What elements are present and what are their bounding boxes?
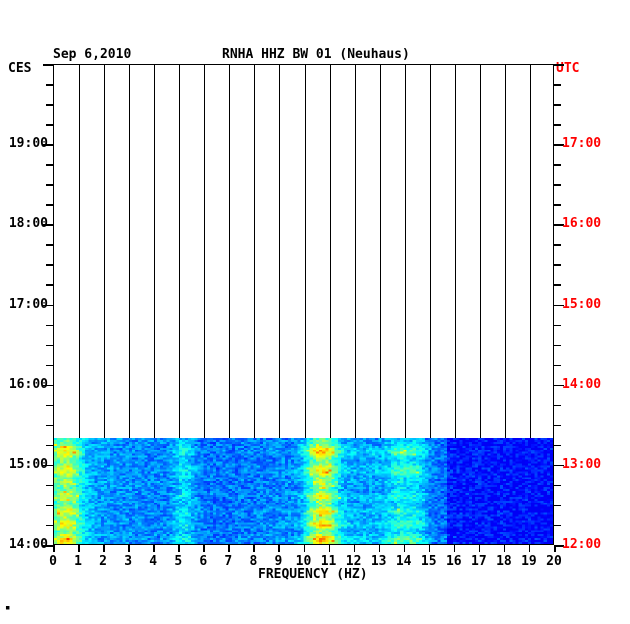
bottom-tick	[329, 545, 331, 552]
bottom-tick	[253, 545, 255, 552]
bottom-tick	[529, 545, 531, 552]
bottom-tick	[354, 545, 356, 552]
left-tick-label: 14:00	[0, 537, 48, 552]
bottom-tick-label: 14	[394, 554, 414, 569]
left-tick-minor	[46, 104, 53, 106]
right-tick-label: 15:00	[562, 297, 601, 312]
bottom-tick	[278, 545, 280, 552]
bottom-tick-label: 3	[118, 554, 138, 569]
bottom-tick	[203, 545, 205, 552]
left-tick-label: 18:00	[0, 216, 48, 231]
bottom-tick-label: 5	[168, 554, 188, 569]
spectrogram-canvas	[54, 438, 553, 544]
left-tick-label: 19:00	[0, 136, 48, 151]
left-tick-minor	[46, 505, 53, 507]
right-tick-minor	[554, 485, 561, 487]
right-tick-label: 16:00	[562, 216, 601, 231]
bottom-tick-label: 16	[444, 554, 464, 569]
bottom-tick	[228, 545, 230, 552]
bottom-tick	[404, 545, 406, 552]
bottom-tick-label: 17	[469, 554, 489, 569]
right-tick-minor	[554, 184, 561, 186]
right-tick-minor	[554, 505, 561, 507]
left-tick-minor	[46, 124, 53, 126]
bottom-tick	[504, 545, 506, 552]
bottom-tick	[429, 545, 431, 552]
bottom-tick	[153, 545, 155, 552]
bottom-tick-label: 20	[544, 554, 564, 569]
spectrogram-image	[54, 438, 553, 544]
bottom-tick	[479, 545, 481, 552]
right-tick-minor	[554, 345, 561, 347]
bottom-tick	[304, 545, 306, 552]
left-tick-minor	[46, 525, 53, 527]
right-tick-minor	[554, 84, 561, 86]
right-tick-minor	[554, 445, 561, 447]
bottom-tick-label: 18	[494, 554, 514, 569]
left-tick-minor	[46, 405, 53, 407]
corner-artifact-mark: ▪	[5, 603, 10, 613]
left-tick-minor	[46, 325, 53, 327]
bottom-tick	[554, 545, 556, 552]
left-axis-label: CES	[8, 61, 31, 76]
bottom-tick	[379, 545, 381, 552]
right-tick-minor	[554, 264, 561, 266]
right-tick-label: 14:00	[562, 377, 601, 392]
right-tick-minor	[554, 425, 561, 427]
right-tick-label: 12:00	[562, 537, 601, 552]
bottom-tick	[178, 545, 180, 552]
left-tick-major	[43, 64, 53, 66]
bottom-tick	[53, 545, 55, 552]
right-tick-minor	[554, 365, 561, 367]
left-tick-minor	[46, 425, 53, 427]
title-date: Sep 6,2010	[53, 47, 131, 62]
xaxis-title: FREQUENCY (HZ)	[258, 567, 368, 582]
left-tick-label: 17:00	[0, 297, 48, 312]
bottom-tick	[128, 545, 130, 552]
left-tick-minor	[46, 365, 53, 367]
left-tick-label: 16:00	[0, 377, 48, 392]
right-tick-minor	[554, 284, 561, 286]
bottom-tick-label: 19	[519, 554, 539, 569]
right-tick-minor	[554, 124, 561, 126]
right-tick-minor	[554, 104, 561, 106]
left-tick-minor	[46, 184, 53, 186]
left-tick-minor	[46, 244, 53, 246]
right-tick-label: 13:00	[562, 457, 601, 472]
right-tick-minor	[554, 525, 561, 527]
plot-frame	[53, 64, 554, 545]
bottom-tick-label: 2	[93, 554, 113, 569]
right-tick-label: 17:00	[562, 136, 601, 151]
left-tick-minor	[46, 204, 53, 206]
right-tick-minor	[554, 244, 561, 246]
bottom-tick	[103, 545, 105, 552]
left-tick-minor	[46, 84, 53, 86]
bottom-tick-label: 15	[419, 554, 439, 569]
bottom-tick	[454, 545, 456, 552]
bottom-tick-label: 0	[43, 554, 63, 569]
right-tick-minor	[554, 405, 561, 407]
left-tick-minor	[46, 445, 53, 447]
bottom-tick-label: 7	[218, 554, 238, 569]
left-tick-minor	[46, 164, 53, 166]
right-tick-minor	[554, 325, 561, 327]
right-tick-major	[554, 64, 564, 66]
spectrogram-page: Sep 6,2010 RNHA HHZ BW 01 (Neuhaus) CES …	[0, 0, 630, 624]
bottom-tick-label: 1	[68, 554, 88, 569]
bottom-tick-label: 13	[369, 554, 389, 569]
right-tick-minor	[554, 204, 561, 206]
bottom-tick-label: 4	[143, 554, 163, 569]
title-station: RNHA HHZ BW 01 (Neuhaus)	[222, 47, 410, 62]
left-tick-minor	[46, 485, 53, 487]
left-tick-minor	[46, 345, 53, 347]
right-tick-minor	[554, 164, 561, 166]
bottom-tick-label: 6	[193, 554, 213, 569]
left-tick-minor	[46, 284, 53, 286]
left-tick-minor	[46, 264, 53, 266]
bottom-tick	[78, 545, 80, 552]
left-tick-label: 15:00	[0, 457, 48, 472]
